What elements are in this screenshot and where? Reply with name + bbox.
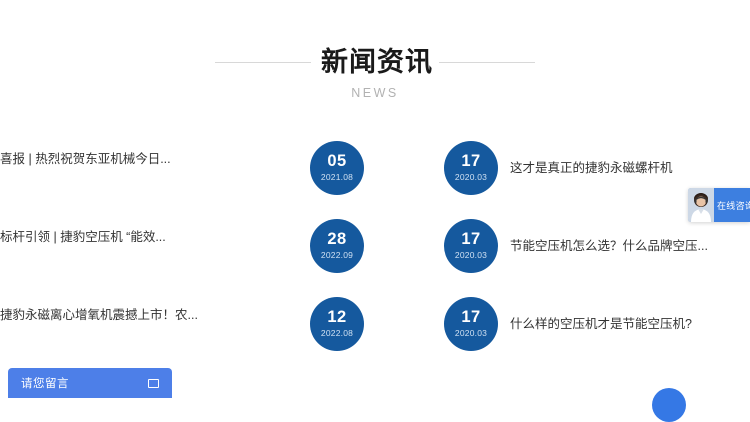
news-date-yearmonth: 2020.03 bbox=[455, 171, 487, 183]
header-rule-left-icon bbox=[215, 62, 311, 63]
news-date-day: 12 bbox=[327, 309, 346, 326]
chat-bubble-icon[interactable] bbox=[652, 388, 686, 422]
news-date-day: 17 bbox=[461, 231, 480, 248]
news-date-day: 05 bbox=[327, 153, 346, 170]
news-date-yearmonth: 2020.03 bbox=[455, 249, 487, 261]
online-consult-widget[interactable]: 在线咨询 bbox=[688, 188, 750, 222]
news-item-right[interactable]: 17 2020.03 什么样的空压机才是节能空压机? bbox=[444, 296, 750, 352]
news-row: 捷豹永磁离心增氧机震撼上市！农... 12 2022.08 17 2020.03… bbox=[0, 296, 750, 374]
online-consult-label: 在线咨询 bbox=[714, 199, 750, 212]
news-date-day: 28 bbox=[327, 231, 346, 248]
news-row: 喜报 | 热烈祝贺东亚机械今日... 05 2021.08 17 2020.03… bbox=[0, 140, 750, 218]
news-section-header: 新闻资讯 NEWS bbox=[0, 46, 750, 100]
news-date-day: 17 bbox=[461, 153, 480, 170]
news-date-yearmonth: 2022.08 bbox=[321, 327, 353, 339]
leave-message-bar[interactable]: 请您留言 bbox=[8, 368, 172, 398]
news-item-title[interactable]: 什么样的空压机才是节能空压机? bbox=[510, 315, 692, 333]
news-date-badge: 12 2022.08 bbox=[310, 297, 364, 351]
news-row: 标杆引领 | 捷豹空压机 “能效... 28 2022.09 17 2020.0… bbox=[0, 218, 750, 296]
news-date-badge: 28 2022.09 bbox=[310, 219, 364, 273]
news-date-badge: 17 2020.03 bbox=[444, 297, 498, 351]
header-rule-right-icon bbox=[439, 62, 535, 63]
news-item-left[interactable]: 捷豹永磁离心增氧机震撼上市！农... 12 2022.08 bbox=[0, 296, 364, 352]
news-grid: 喜报 | 热烈祝贺东亚机械今日... 05 2021.08 17 2020.03… bbox=[0, 140, 750, 374]
leave-message-label: 请您留言 bbox=[21, 375, 69, 391]
news-date-badge: 17 2020.03 bbox=[444, 141, 498, 195]
customer-service-avatar-icon bbox=[688, 188, 714, 222]
news-date-yearmonth: 2022.09 bbox=[321, 249, 353, 261]
news-item-title[interactable]: 节能空压机怎么选？什么品牌空压... bbox=[510, 237, 708, 255]
news-item-left[interactable]: 标杆引领 | 捷豹空压机 “能效... 28 2022.09 bbox=[0, 218, 364, 274]
news-item-title[interactable]: 喜报 | 热烈祝贺东亚机械今日... bbox=[0, 150, 292, 168]
news-item-title[interactable]: 标杆引领 | 捷豹空压机 “能效... bbox=[0, 228, 292, 246]
news-date-badge: 05 2021.08 bbox=[310, 141, 364, 195]
news-date-yearmonth: 2021.08 bbox=[321, 171, 353, 183]
page-subtitle: NEWS bbox=[0, 86, 750, 100]
news-date-yearmonth: 2020.03 bbox=[455, 327, 487, 339]
news-section-title-row: 新闻资讯 bbox=[0, 46, 750, 78]
news-date-day: 17 bbox=[461, 309, 480, 326]
page-title: 新闻资讯 bbox=[321, 46, 433, 78]
minimize-square-icon[interactable] bbox=[148, 379, 159, 388]
news-item-title[interactable]: 捷豹永磁离心增氧机震撼上市！农... bbox=[0, 306, 292, 324]
news-item-right[interactable]: 17 2020.03 节能空压机怎么选？什么品牌空压... bbox=[444, 218, 750, 274]
news-date-badge: 17 2020.03 bbox=[444, 219, 498, 273]
news-item-left[interactable]: 喜报 | 热烈祝贺东亚机械今日... 05 2021.08 bbox=[0, 140, 364, 196]
news-item-title[interactable]: 这才是真正的捷豹永磁螺杆机 bbox=[510, 159, 673, 177]
